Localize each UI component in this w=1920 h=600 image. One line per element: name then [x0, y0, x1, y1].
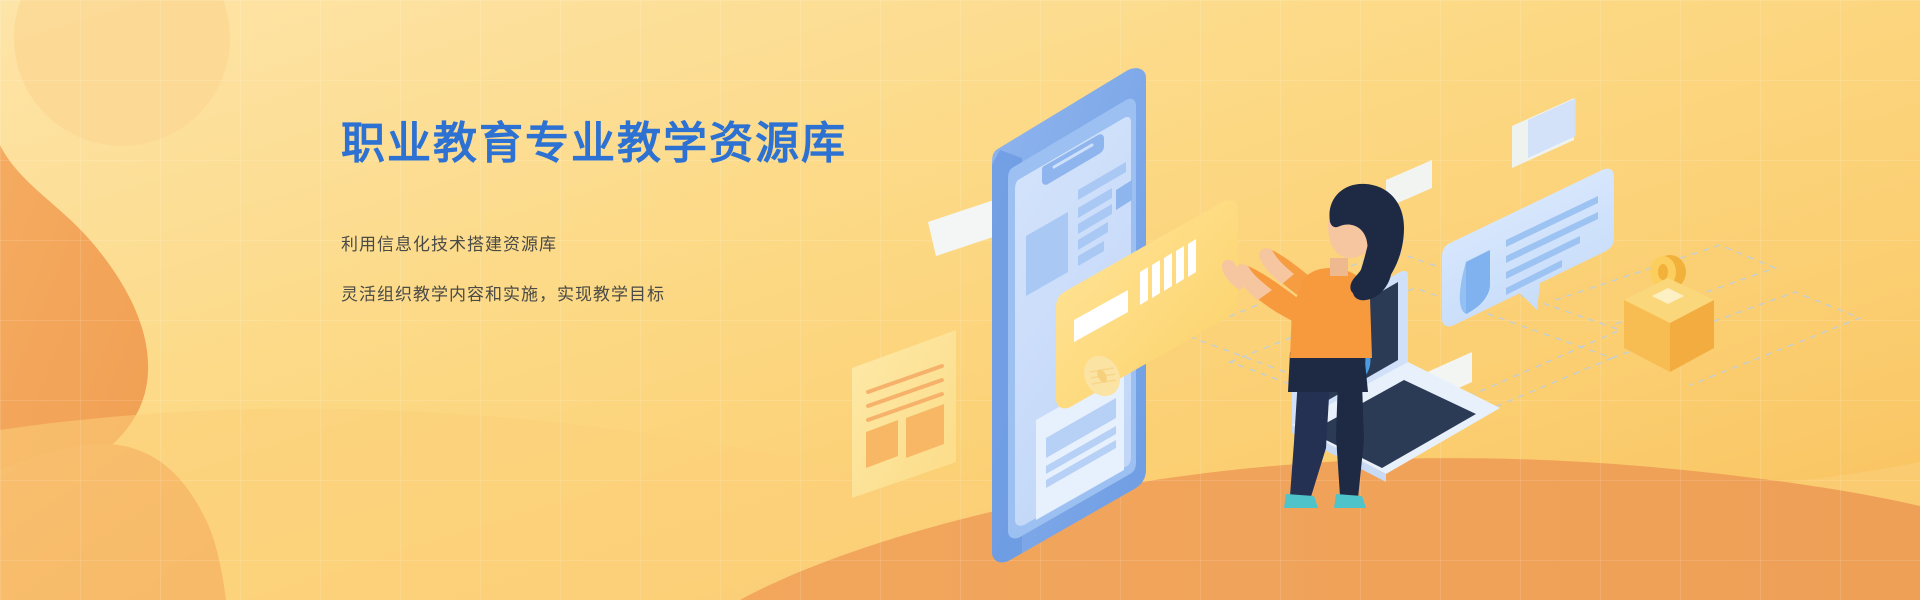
banner-text-block: 职业教育专业教学资源库 利用信息化技术搭建资源库 灵活组织教学内容和实施，实现教… — [341, 117, 981, 305]
page-title: 职业教育专业教学资源库 — [341, 117, 981, 171]
banner-subtitle-2: 灵活组织教学内容和实施，实现教学目标 — [341, 280, 981, 305]
banner-subtitle-1: 利用信息化技术搭建资源库 — [341, 230, 981, 255]
hero-banner: 职业教育专业教学资源库 利用信息化技术搭建资源库 灵活组织教学内容和实施，实现教… — [0, 0, 1920, 600]
